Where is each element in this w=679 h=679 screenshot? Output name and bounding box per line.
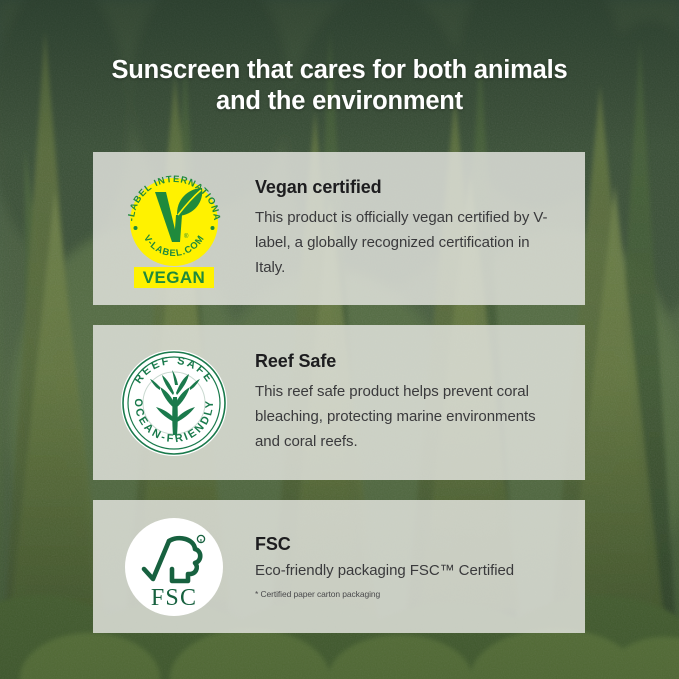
reef-safe-ocean-friendly-logo: REEF SAFE OCEAN-FRIENDLY xyxy=(93,349,255,457)
svg-text:®: ® xyxy=(184,233,189,240)
v-label-vegan-logo: V-LABEL INTERNATIONAL V-LABEL.COM ® VEGA… xyxy=(93,170,255,288)
certification-card-vegan: V-LABEL INTERNATIONAL V-LABEL.COM ® VEGA… xyxy=(93,152,585,305)
card-body-fsc: FSC Eco-friendly packaging FSC™ Certifie… xyxy=(255,534,585,599)
card-note-fsc: * Certified paper carton packaging xyxy=(255,589,563,599)
card-body-vegan: Vegan certified This product is official… xyxy=(255,177,585,280)
card-text-fsc: Eco-friendly packaging FSC™ Certified xyxy=(255,560,563,582)
card-text-vegan: This product is officially vegan certifi… xyxy=(255,205,563,280)
card-heading-reef-safe: Reef Safe xyxy=(255,351,563,372)
certification-card-reef-safe: REEF SAFE OCEAN-FRIENDLY xyxy=(93,325,585,480)
fsc-certified-logo: R FSC xyxy=(93,517,255,617)
card-body-reef-safe: Reef Safe This reef safe product helps p… xyxy=(255,351,585,454)
fsc-wordmark: FSC xyxy=(151,585,197,611)
vegan-banner-label: VEGAN xyxy=(143,268,205,287)
card-heading-fsc: FSC xyxy=(255,534,563,555)
card-heading-vegan: Vegan certified xyxy=(255,177,563,198)
card-text-reef-safe: This reef safe product helps prevent cor… xyxy=(255,379,563,454)
page-title: Sunscreen that cares for both animals an… xyxy=(0,55,679,117)
certification-card-fsc: R FSC FSC Eco-friendly packaging FSC™ Ce… xyxy=(93,500,585,633)
